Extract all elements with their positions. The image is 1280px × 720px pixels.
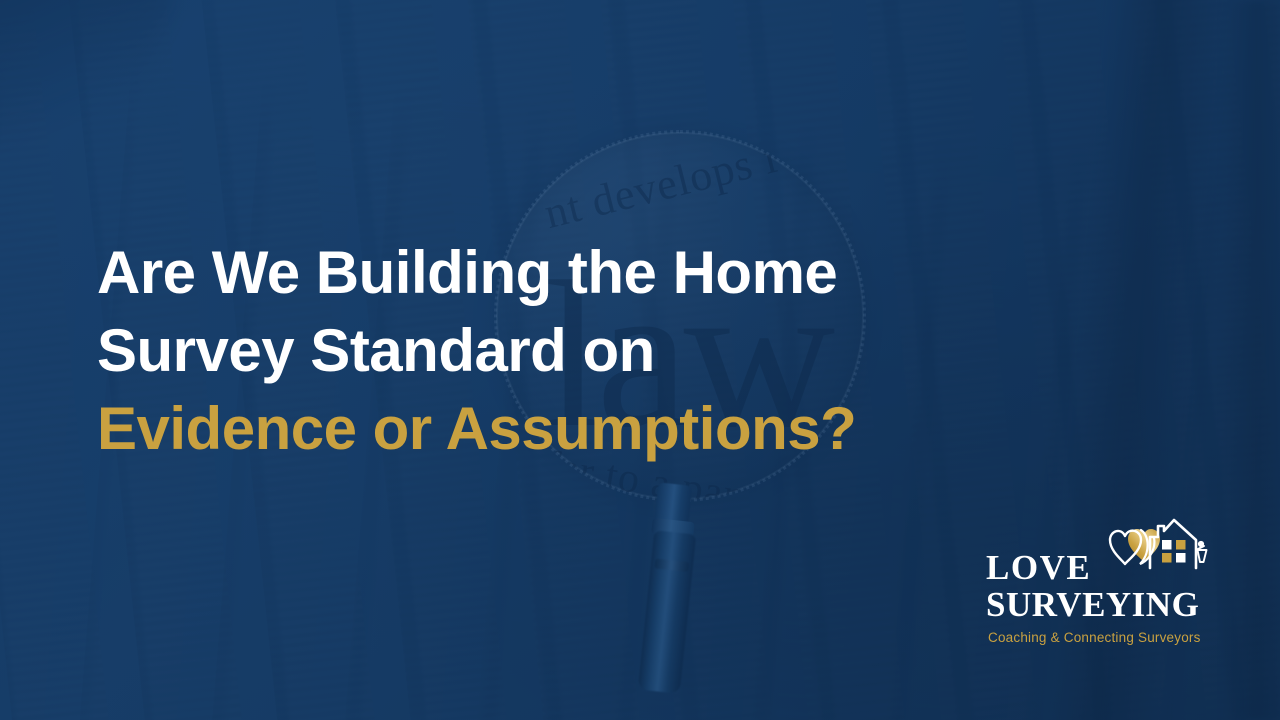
logo-name-love: LOVE — [986, 550, 1208, 586]
headline-line-2: Survey Standard on — [97, 312, 977, 390]
page-title: Are We Building the Home Survey Standard… — [97, 234, 977, 468]
logo-wordmark: LOVE SURVEYING — [986, 550, 1208, 624]
logo-tagline: Coaching & Connecting Surveyors — [988, 630, 1210, 645]
logo[interactable]: LOVE SURVEYING Coaching & Connecting Sur… — [986, 512, 1208, 652]
headline-line-3-accent: Evidence or Assumptions? — [97, 390, 977, 468]
headline-line-1: Are We Building the Home — [97, 234, 977, 312]
blog-banner: nt develops i law refer to a par s crim … — [0, 0, 1280, 720]
logo-name-surveying: SURVEYING — [986, 586, 1208, 624]
